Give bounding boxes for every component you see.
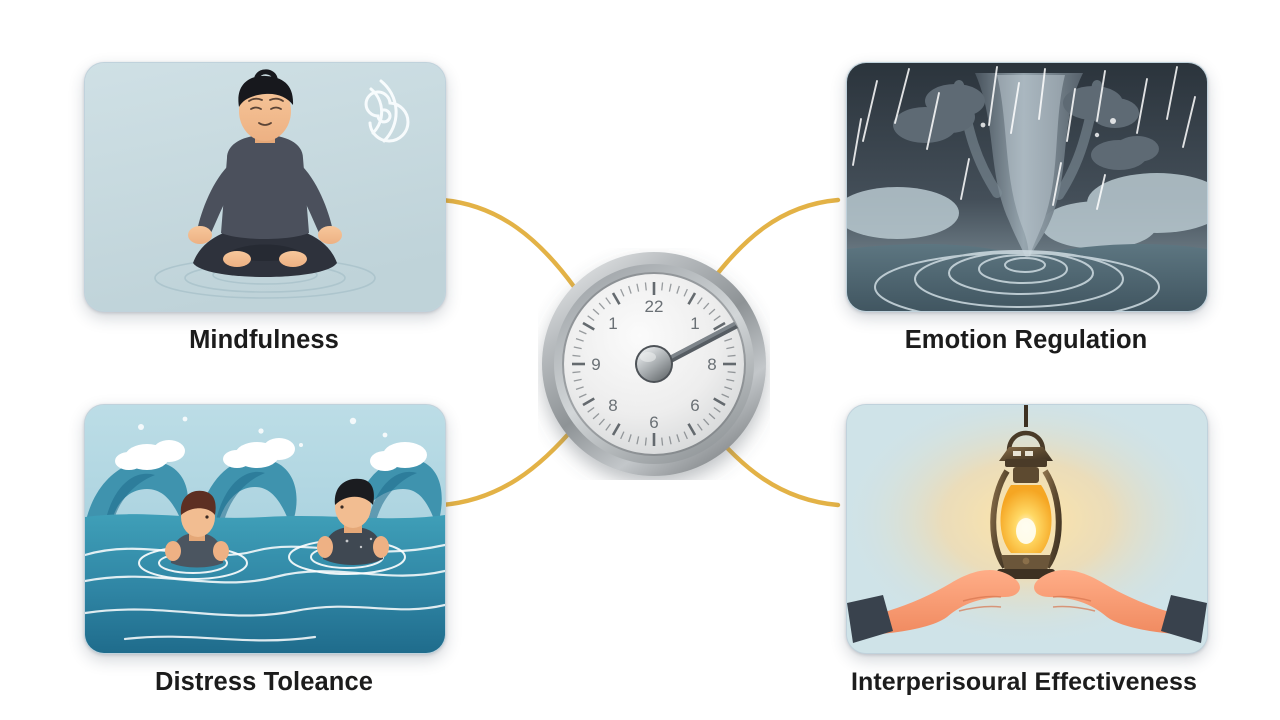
mindfulness-illustration <box>85 63 445 311</box>
node-label-emotion-regulation: Emotion Regulation <box>846 326 1206 355</box>
clock-numeral: 8 <box>707 355 716 374</box>
lantern-in-hands-illustration <box>847 405 1207 653</box>
card-interpersonal-effectiveness[interactable] <box>846 404 1208 654</box>
node-label-mindfulness: Mindfulness <box>84 326 444 355</box>
clock-numeral: 6 <box>649 413 658 432</box>
clock-numeral: 8 <box>608 396 617 415</box>
clock-numeral: 9 <box>591 355 600 374</box>
clock-numeral: 1 <box>690 314 699 333</box>
node-distress-tolerance[interactable]: Distress Toleance <box>84 404 444 697</box>
node-label-distress-tolerance: Distress Toleance <box>84 668 444 697</box>
node-interpersonal-effectiveness[interactable]: Interperisoural Effectiveness <box>846 404 1206 697</box>
clock-numeral: 1 <box>608 314 617 333</box>
clock-numeral: 6 <box>690 396 699 415</box>
storm-tornado-illustration <box>847 63 1207 311</box>
clock-hub[interactable]: 221198866 <box>538 248 770 480</box>
node-mindfulness[interactable]: Mindfulness <box>84 62 444 355</box>
clock-numeral: 22 <box>645 297 664 316</box>
analog-clock[interactable]: 221198866 <box>538 248 770 480</box>
card-distress-tolerance[interactable] <box>84 404 446 654</box>
card-mindfulness[interactable] <box>84 62 446 312</box>
node-label-interpersonal-effectiveness: Interperisoural Effectiveness <box>842 668 1206 697</box>
card-emotion-regulation[interactable] <box>846 62 1208 312</box>
ocean-waves-illustration <box>85 405 445 653</box>
infographic-canvas: Mindfulness <box>0 0 1280 720</box>
node-emotion-regulation[interactable]: Emotion Regulation <box>846 62 1206 355</box>
